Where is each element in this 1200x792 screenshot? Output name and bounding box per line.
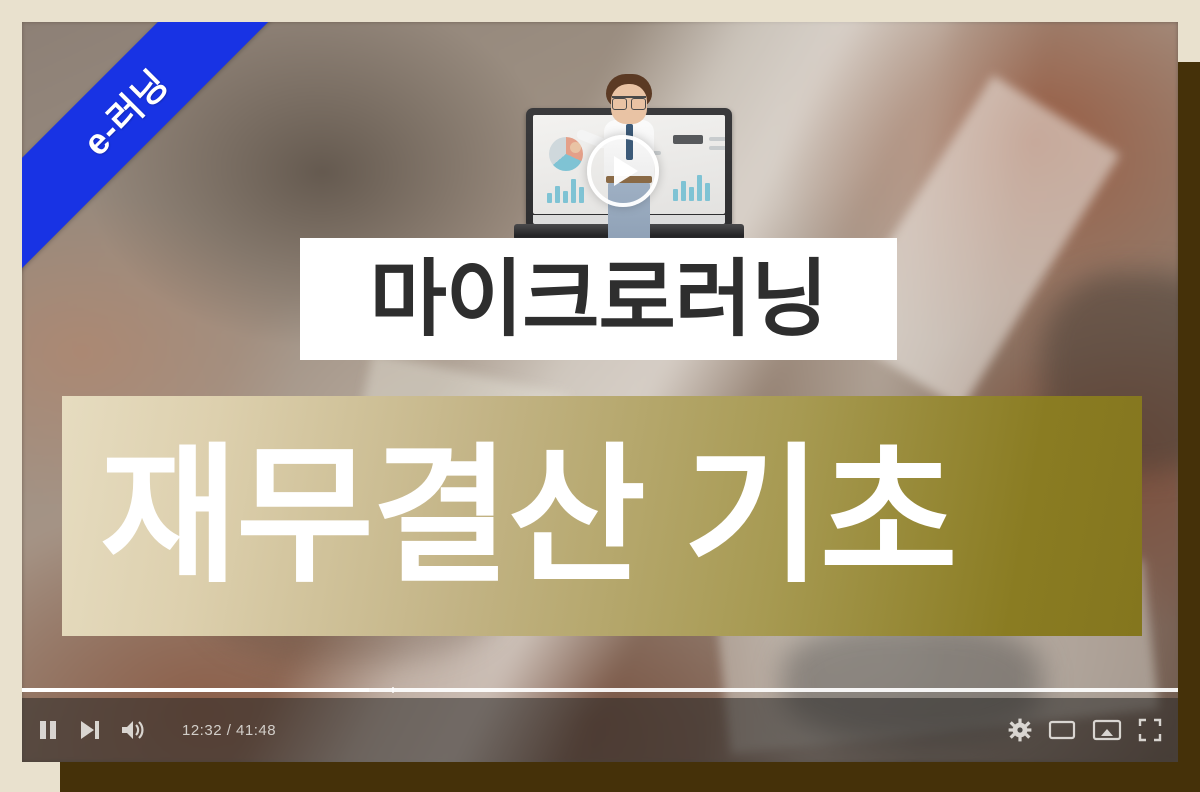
volume-icon[interactable] — [120, 719, 146, 741]
course-title-label: 재무결산 기초 — [100, 441, 956, 591]
next-icon[interactable] — [78, 719, 100, 741]
video-player[interactable]: e-러닝 마이크로러닝 재무결산 기초 — [22, 22, 1178, 762]
pause-icon[interactable] — [38, 719, 58, 741]
cast-icon[interactable] — [1092, 719, 1122, 741]
chart-text-line — [709, 137, 725, 141]
progress-played — [22, 688, 369, 692]
course-category-box: 마이크로러닝 — [300, 238, 897, 360]
play-icon — [614, 156, 638, 186]
progress-chapter-marker — [392, 687, 394, 693]
gear-icon[interactable] — [1008, 718, 1032, 742]
chart-text-line — [709, 146, 725, 150]
course-category-label: 마이크로러닝 — [370, 257, 828, 341]
progress-bar[interactable] — [22, 688, 1178, 692]
controls-left-group: 12:32 / 41:48 — [38, 719, 276, 741]
controls-right-group — [1008, 718, 1162, 742]
page-root: e-러닝 마이크로러닝 재무결산 기초 — [0, 0, 1200, 792]
chart-accent-block — [673, 135, 703, 144]
video-controls-bar[interactable]: 12:32 / 41:48 — [22, 698, 1178, 762]
play-button[interactable] — [587, 135, 659, 207]
character-hand — [570, 142, 581, 153]
bar-chart-icon — [673, 173, 710, 201]
course-title-bar: 재무결산 기초 — [62, 396, 1142, 636]
miniplayer-icon[interactable] — [1048, 719, 1076, 741]
time-display: 12:32 / 41:48 — [182, 722, 276, 739]
bar-chart-icon — [547, 177, 584, 203]
fullscreen-icon[interactable] — [1138, 718, 1162, 742]
character-glasses — [612, 96, 646, 108]
